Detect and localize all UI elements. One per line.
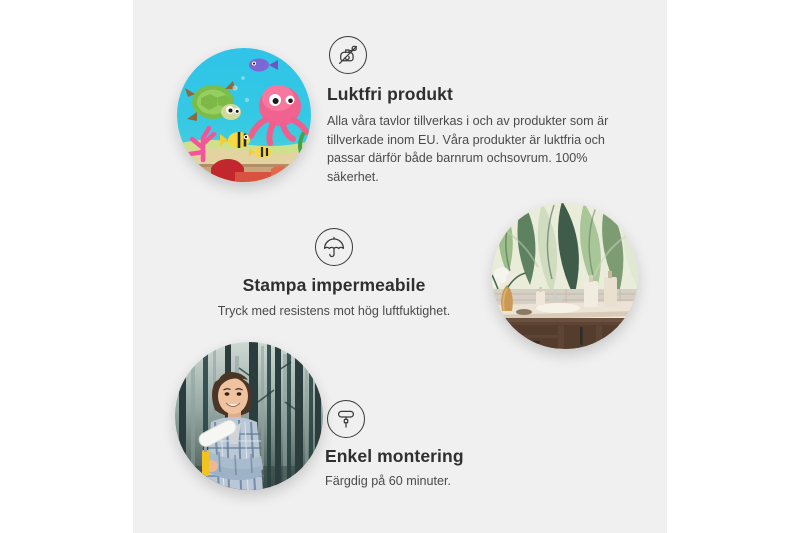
- feature-title: Luktfri produkt: [327, 84, 627, 105]
- promo-feature-page: Luktfri produkt Alla våra tavlor tillver…: [0, 0, 800, 533]
- feature-waterproof-text: Stampa impermeabile Tryck med resistens …: [200, 228, 468, 321]
- feature-description: Alla våra tavlor tillverkas i och av pro…: [327, 112, 619, 186]
- feature-description: Färgdig på 60 minuter.: [325, 472, 575, 491]
- bathroom-tropical-leaf-wallpaper-photo: [492, 203, 638, 349]
- feature-assembly-text: Enkel montering Färgdig på 60 minuter.: [325, 400, 575, 491]
- feature-title: Enkel montering: [325, 446, 575, 467]
- umbrella-icon: [315, 228, 353, 266]
- woman-with-paint-roller-forest-photo: [175, 342, 323, 490]
- no-odour-perfume-bottle-icon: [329, 36, 367, 74]
- underwater-sea-life-mural-photo: [177, 48, 311, 182]
- feature-title: Stampa impermeabile: [200, 275, 468, 296]
- feature-description: Tryck med resistens mot hög luftfuktighe…: [200, 302, 468, 321]
- feature-odourless-text: Luktfri produkt Alla våra tavlor tillver…: [327, 36, 627, 186]
- paint-roller-icon: [327, 400, 365, 438]
